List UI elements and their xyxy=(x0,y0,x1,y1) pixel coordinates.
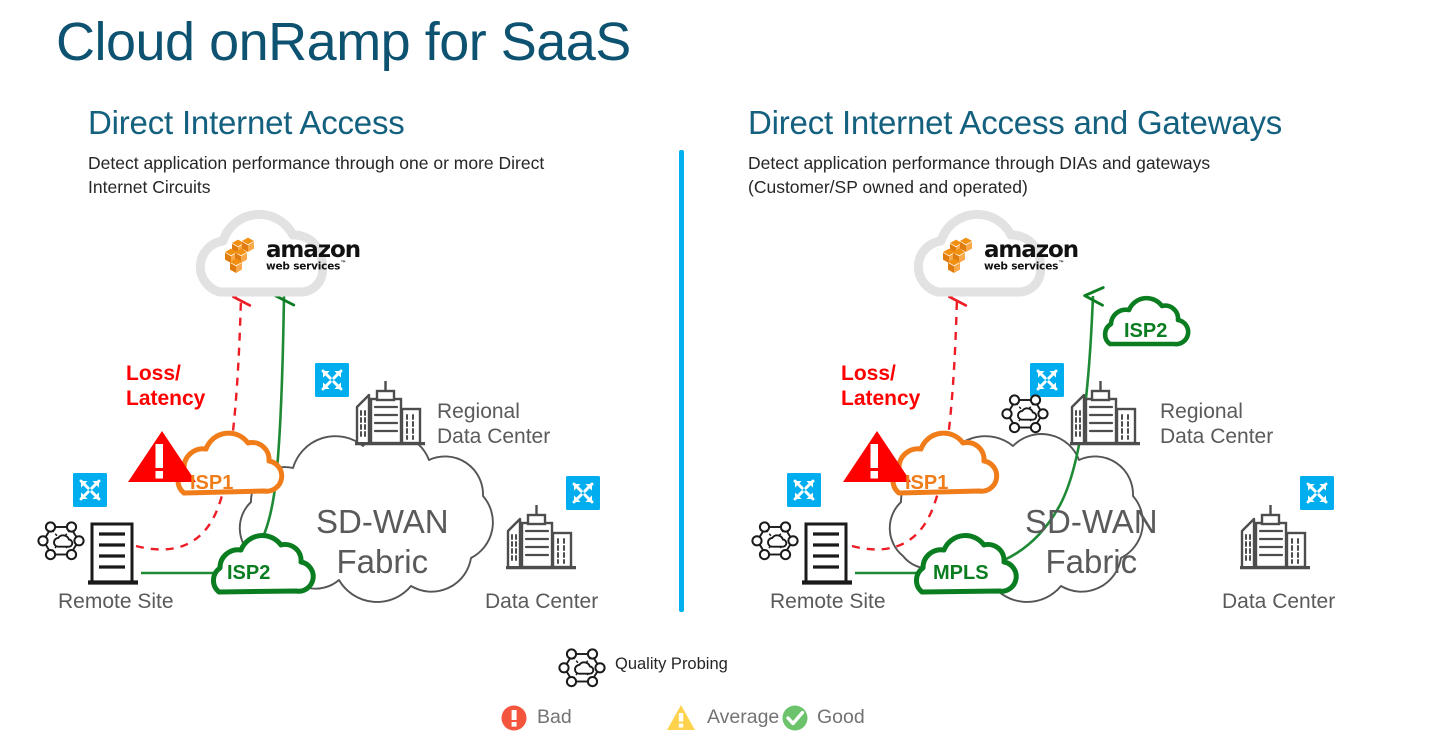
remote-site-label-right: Remote Site xyxy=(770,590,886,615)
isp2-label-left: ISP2 xyxy=(227,562,270,585)
loss-latency-warning-icon xyxy=(128,431,196,482)
loss-latency-label-left: Loss/ Latency xyxy=(126,362,205,412)
data-center-label-left: Data Center xyxy=(485,590,598,615)
aws-subwordmark: web services™ xyxy=(266,261,360,272)
aws-wordmark: amazon xyxy=(984,239,1078,262)
loss-latency-warning-icon-right xyxy=(843,431,911,482)
good-icon xyxy=(783,706,808,731)
fabric-label-right: SD-WAN Fabric xyxy=(1025,502,1158,581)
fabric-label-left: SD-WAN Fabric xyxy=(316,502,449,581)
aws-logo-right: amazon web services™ xyxy=(940,236,1078,274)
isp1-label-right: ISP1 xyxy=(905,472,948,495)
bad-icon xyxy=(502,706,527,731)
legend-bad-label: Bad xyxy=(537,706,572,729)
panel-heading-left: Direct Internet Access xyxy=(88,105,405,141)
panel-subtitle-left: Detect application performance through o… xyxy=(88,152,608,199)
average-icon xyxy=(667,705,695,730)
isp1-label-left: ISP1 xyxy=(190,472,233,495)
data-center-label-right: Data Center xyxy=(1222,590,1335,615)
panel-heading-right: Direct Internet Access and Gateways xyxy=(748,105,1282,141)
aws-wordmark: amazon xyxy=(266,239,360,262)
panel-divider xyxy=(679,150,684,612)
aws-logo-left: amazon web services™ xyxy=(222,236,360,274)
legend-good-label: Good xyxy=(817,706,865,729)
aws-subwordmark: web services™ xyxy=(984,261,1078,272)
regional-dc-label-right: Regional Data Center xyxy=(1160,400,1310,450)
panel-subtitle-right: Detect application performance through D… xyxy=(748,152,1268,199)
page-title: Cloud onRamp for SaaS xyxy=(56,14,631,71)
slide-canvas: Cloud onRamp for SaaS Direct Internet Ac… xyxy=(0,0,1429,752)
aws-cubes-icon xyxy=(222,236,264,274)
loss-latency-label-right: Loss/ Latency xyxy=(841,362,920,412)
legend-average-label: Average xyxy=(707,706,779,729)
mpls-label-right: MPLS xyxy=(933,562,989,585)
quality-probing-label: Quality Probing xyxy=(615,655,728,674)
aws-cubes-icon xyxy=(940,236,982,274)
isp2-label-right: ISP2 xyxy=(1124,320,1167,343)
regional-dc-label-left: Regional Data Center xyxy=(437,400,577,450)
remote-site-label-left: Remote Site xyxy=(58,590,174,615)
